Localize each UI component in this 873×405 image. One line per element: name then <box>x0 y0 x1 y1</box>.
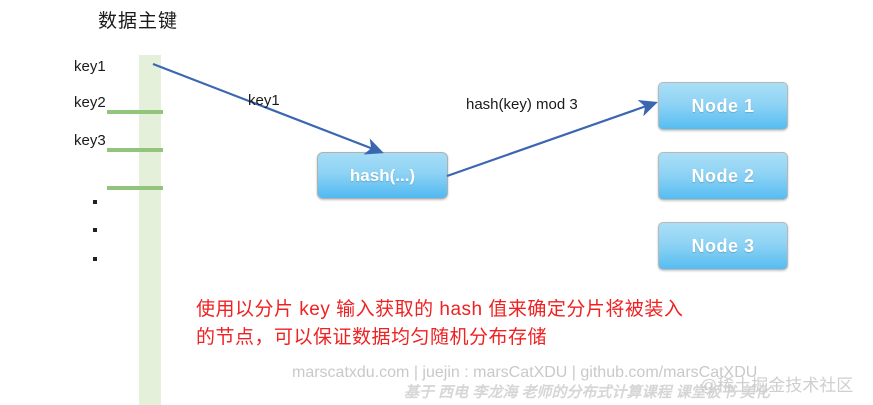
caption-line-1: 使用以分片 key 输入获取的 hash 值来确定分片将被装入 <box>196 296 796 324</box>
key-divider <box>107 186 163 190</box>
ellipsis-dot-icon <box>93 228 97 232</box>
watermark-badge: @稀土掘金技术社区 <box>700 371 853 396</box>
node-label: Node 3 <box>691 236 754 257</box>
watermark-source: marscatxdu.com | juejin : marsCatXDU | g… <box>292 364 757 382</box>
hash-function-label: hash(...) <box>350 166 415 186</box>
hash-function-box[interactable]: hash(...) <box>317 152 448 199</box>
ellipsis-dot-icon <box>93 257 97 261</box>
arrow-label-hash-mod: hash(key) mod 3 <box>466 96 578 113</box>
data-primary-key-column <box>139 55 161 405</box>
arrow-label-key1: key1 <box>248 92 280 109</box>
page-title: 数据主键 <box>98 6 178 33</box>
node-box-2[interactable]: Node 2 <box>658 152 788 200</box>
key-divider <box>107 110 163 114</box>
key-label: key3 <box>74 132 106 149</box>
arrow-hash-to-node <box>447 103 655 176</box>
diagram-canvas: 数据主键 key1 key2 key3 hash(...) Node 1 Nod… <box>0 0 873 405</box>
key-label: key1 <box>74 58 106 75</box>
node-box-3[interactable]: Node 3 <box>658 222 788 270</box>
node-label: Node 2 <box>691 166 754 187</box>
caption-line-2: 的节点，可以保证数据均匀随机分布存储 <box>196 324 796 352</box>
caption-note: 使用以分片 key 输入获取的 hash 值来确定分片将被装入 的节点，可以保证… <box>196 296 796 352</box>
key-divider <box>107 148 163 152</box>
node-box-1[interactable]: Node 1 <box>658 82 788 130</box>
node-label: Node 1 <box>691 96 754 117</box>
key-label: key2 <box>74 94 106 111</box>
ellipsis-dot-icon <box>93 200 97 204</box>
